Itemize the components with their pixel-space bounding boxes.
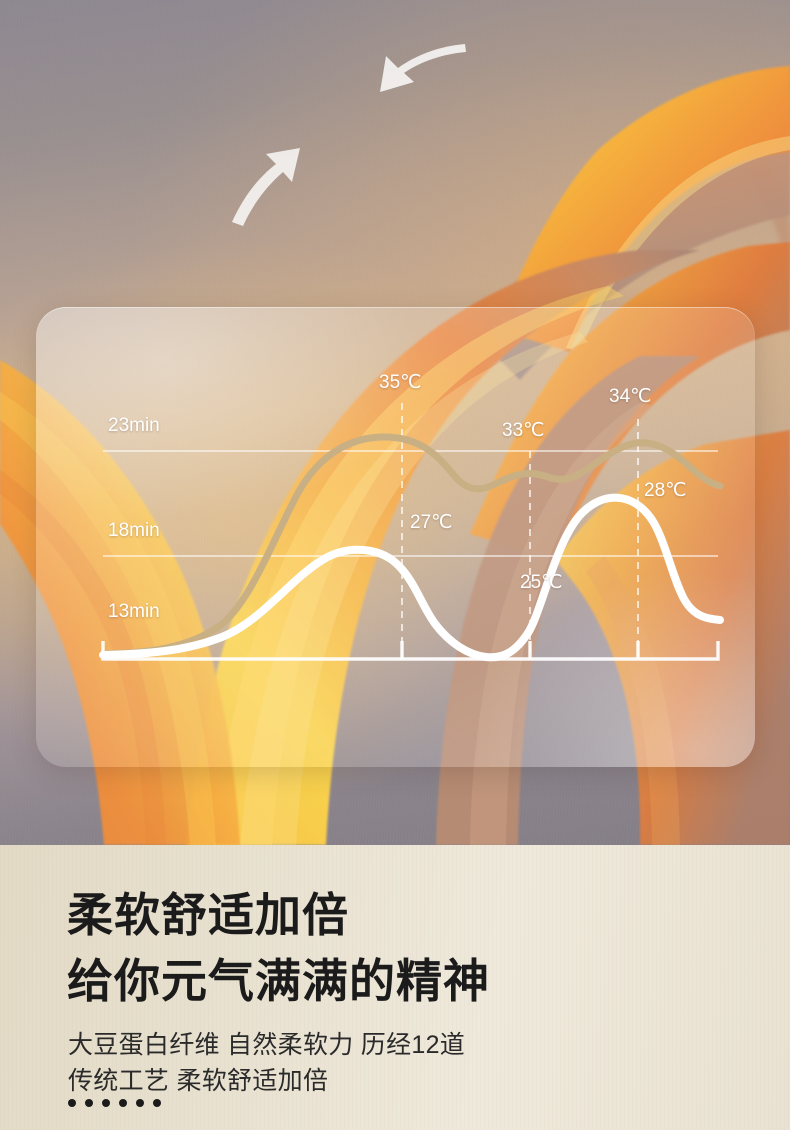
- body-line-1: 大豆蛋白纤维 自然柔软力 历经12道: [68, 1025, 465, 1061]
- temp-label-gold-dip: 33℃: [502, 419, 544, 442]
- temp-label-gold-peak1: 35℃: [379, 371, 421, 394]
- y-axis-label-18min: 18min: [108, 520, 160, 542]
- arrow-lower-right-icon: [232, 148, 300, 226]
- series-line-gold: [103, 437, 720, 654]
- copy-panel: 柔软舒适加倍 给你元气满满的精神 大豆蛋白纤维 自然柔软力 历经12道 传统工艺…: [0, 845, 790, 1130]
- headline-1: 柔软舒适加倍: [67, 892, 349, 938]
- temp-label-white-peak2: 28℃: [644, 479, 686, 502]
- dot: [85, 1099, 93, 1107]
- arrow-upper-left-icon: [380, 44, 466, 92]
- ellipsis-dots: [68, 1099, 161, 1107]
- temp-label-white-peak1: 27℃: [410, 511, 452, 534]
- product-detail-page: 23min 18min 13min 35℃ 33℃ 34℃ 27℃ 25℃ 28…: [0, 0, 790, 1130]
- chart-card: 23min 18min 13min 35℃ 33℃ 34℃ 27℃ 25℃ 28…: [36, 307, 755, 767]
- dot: [68, 1099, 76, 1107]
- temp-label-gold-peak2: 34℃: [609, 385, 651, 408]
- temp-label-white-dip: 25℃: [520, 571, 562, 594]
- body-line-2: 传统工艺 柔软舒适加倍: [68, 1061, 328, 1097]
- hero-section: 23min 18min 13min 35℃ 33℃ 34℃ 27℃ 25℃ 28…: [0, 0, 790, 845]
- dot: [119, 1099, 127, 1107]
- headline-2: 给你元气满满的精神: [67, 958, 490, 1004]
- dot: [153, 1099, 161, 1107]
- dot: [136, 1099, 144, 1107]
- dot: [102, 1099, 110, 1107]
- y-axis-label-23min: 23min: [108, 415, 160, 437]
- y-axis-label-13min: 13min: [108, 601, 160, 623]
- headline-1-wrapper: 柔软舒适加倍: [67, 892, 349, 938]
